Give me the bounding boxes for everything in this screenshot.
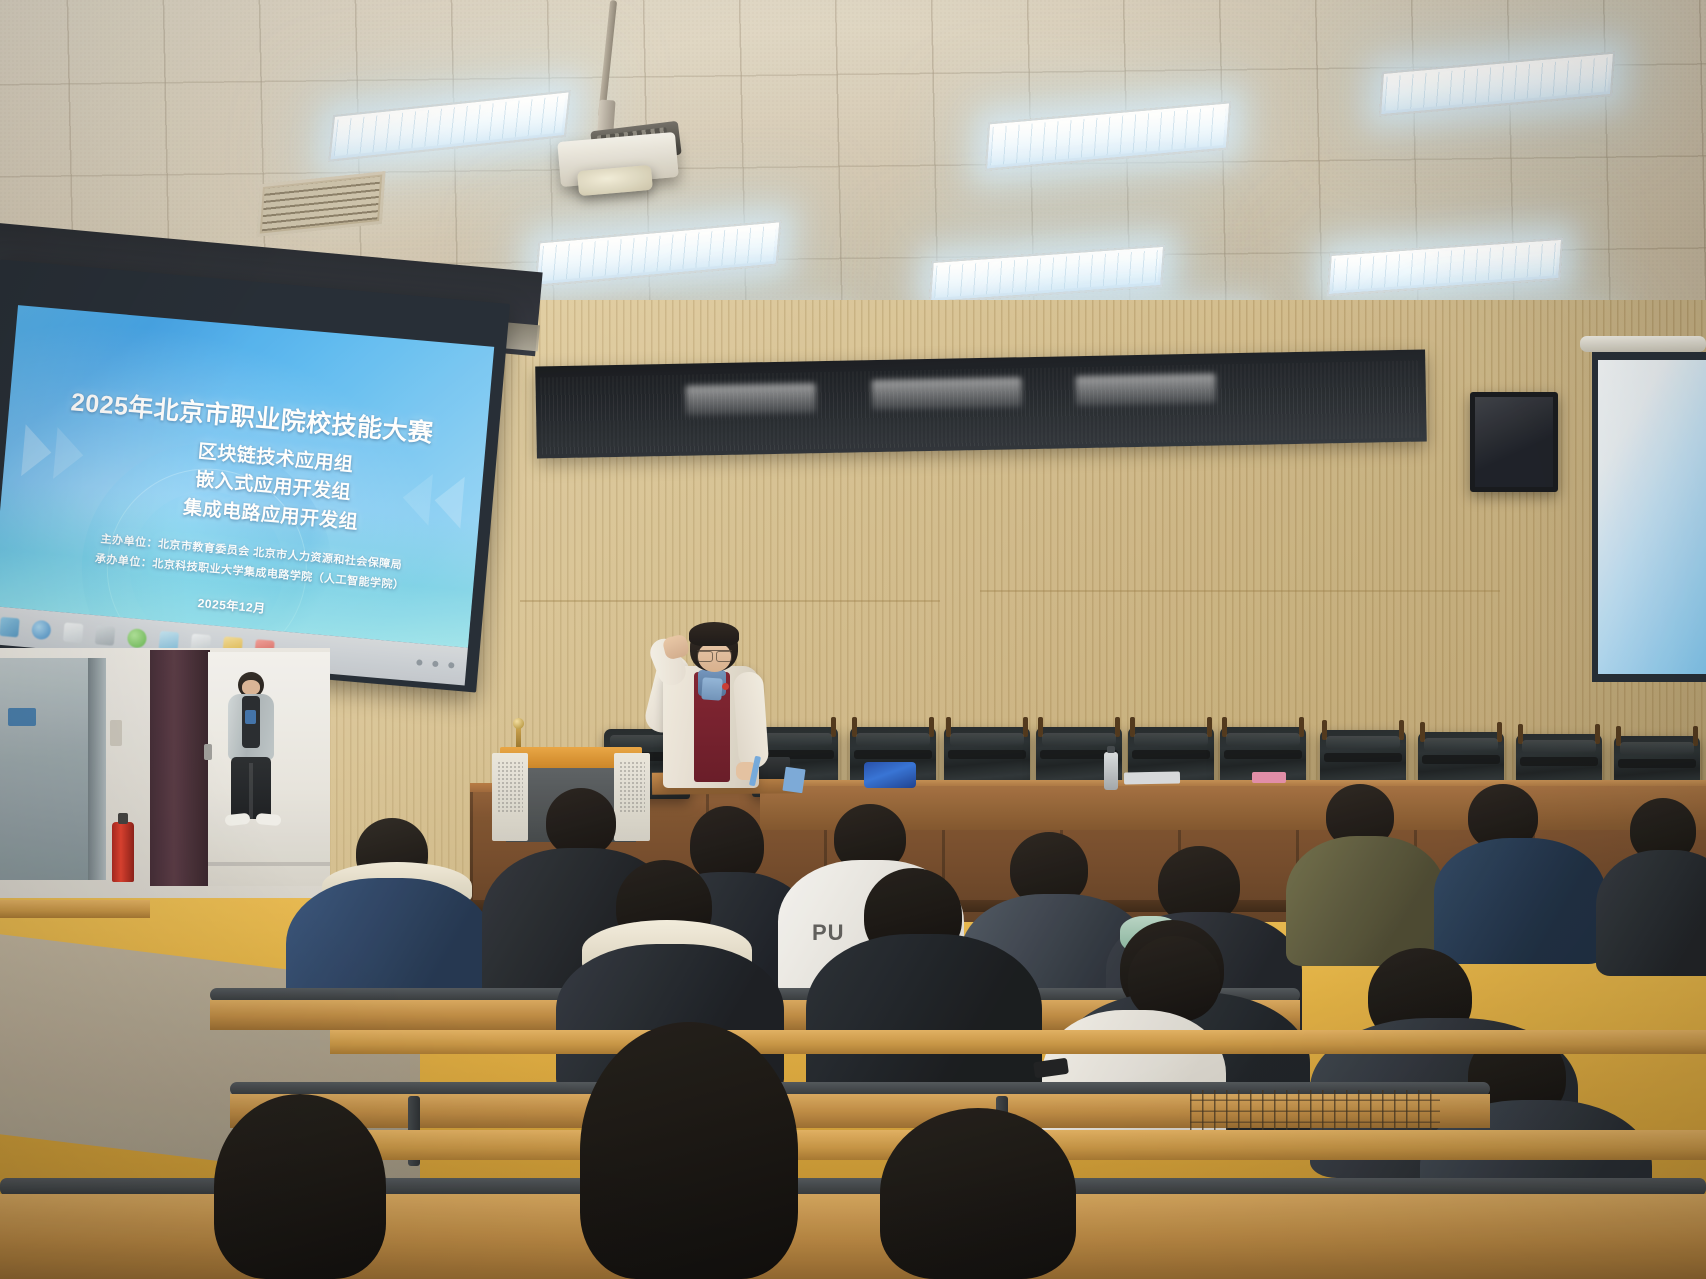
slide-surface: 2025年北京市职业院校技能大赛 区块链技术应用组 嵌入式应用开发组 集成电路应… [0,305,494,648]
blackboard-reflection-3 [1075,373,1216,406]
door-sign [8,708,36,726]
chair-arm [1518,724,1523,744]
right-screen-surface [1598,360,1706,674]
chair-arm [1322,720,1327,740]
chair-arm [1497,722,1502,742]
attendee-jacket-text: PU [812,920,845,946]
chair-arm [1222,717,1227,737]
chair-arm [1595,724,1600,744]
chair-arm [1023,717,1028,737]
glasses-icon [697,650,732,660]
walker-lanyard-badge [245,710,256,724]
main-projection-screen: 2025年北京市职业院校技能大赛 区块链技术应用组 嵌入式应用开发组 集成电路应… [0,259,510,692]
right-projection-screen [1592,352,1706,682]
chair-arm [946,717,951,737]
walker-pants [231,757,271,819]
chair-arm [852,717,857,737]
tray-icon-2[interactable] [432,661,439,668]
chair-arm [929,717,934,737]
tray-icon-1[interactable] [416,659,423,666]
wire-storage-basket [1190,1090,1440,1134]
chair-arm [1115,717,1120,737]
chair-arm [1207,717,1212,737]
attendee-coat [1596,850,1706,976]
lecture-hall-photo: 2025年北京市职业院校技能大赛 区块链技术应用组 嵌入式应用开发组 集成电路应… [0,0,1706,1279]
side-desk-left [0,900,150,918]
attendee-hair [580,1022,798,1279]
door-push-plate[interactable] [110,720,122,746]
blackboard-reflection-2 [872,377,1023,410]
wechat-icon[interactable] [127,628,148,649]
podium-speaker-right [614,753,650,841]
blue-bag [864,762,916,788]
water-bottle [1104,752,1118,790]
file-explorer-icon[interactable] [63,622,84,643]
app-icon-4[interactable] [95,625,116,646]
fire-extinguisher-icon [112,822,134,882]
wall-seam-2 [980,590,1500,592]
glass-door-frame [88,658,106,880]
taskbar-tray[interactable] [416,659,466,669]
glass-door-panel[interactable] [0,658,90,880]
chair-arm [831,717,836,737]
edge-browser-icon[interactable] [31,619,52,640]
presenter-shirt-inner [701,677,722,700]
blackboard-reflection-1 [686,383,817,415]
door-jamb [150,650,210,886]
presenter-bangs [689,622,739,646]
attendee-hair [546,788,616,856]
podium-speaker-left [492,753,528,841]
wall-mounted-display [1470,392,1558,492]
desk-row2 [330,1030,1706,1054]
blackboard [535,349,1427,458]
chair-arm [1299,717,1304,737]
chair-arm [1616,726,1621,746]
attendee-hair [880,1108,1076,1279]
attendee-coat [806,934,1042,1104]
walker-shoe-right [256,813,282,826]
vent-louvers [262,177,380,232]
attendee-coat [1286,836,1446,966]
attendee-coat [1434,838,1606,964]
wall-seam-3 [520,600,940,602]
pink-item-on-table [1252,772,1286,783]
chair-arm [1130,717,1135,737]
tray-icon-3[interactable] [448,662,455,669]
windows-start-icon[interactable] [0,616,20,637]
hallway-floor-line [208,862,330,866]
tablet-on-table [1124,772,1180,785]
slide-chevron-left-1 [21,424,53,478]
presenter-badge-pin [722,683,729,690]
chair-arm [1693,726,1698,746]
right-screen-roller [1580,336,1706,352]
attendee-hair [214,1094,386,1279]
chair-arm [1420,722,1425,742]
door-handle[interactable] [204,744,212,760]
chair-arm [1399,720,1404,740]
chair-arm [1038,717,1043,737]
blue-document [782,767,805,794]
walker-face [242,680,260,695]
